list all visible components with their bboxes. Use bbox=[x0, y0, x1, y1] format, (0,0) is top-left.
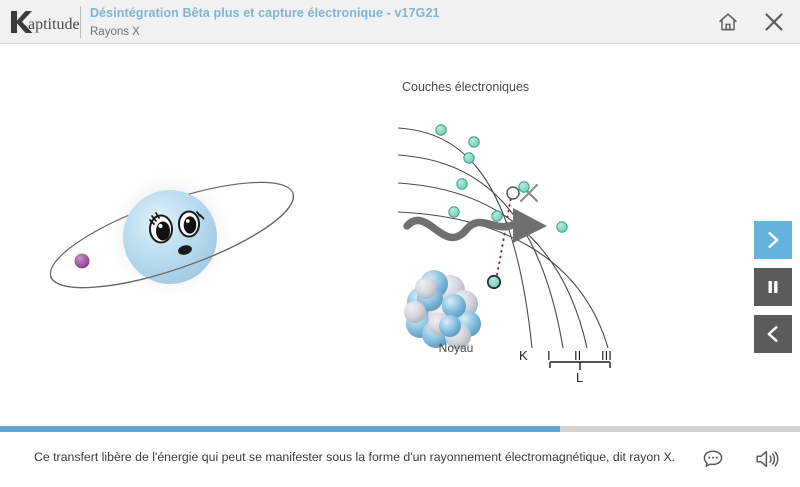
electron-shells-diagram: Couches électroniques bbox=[380, 80, 660, 410]
transitioning-electron bbox=[488, 276, 500, 288]
caption-bar: Ce transfert libère de l'énergie qui peu… bbox=[0, 432, 800, 487]
shell-label-l1: I bbox=[547, 348, 551, 363]
shell-label-ticks bbox=[550, 362, 610, 370]
pause-button[interactable] bbox=[754, 268, 792, 306]
electrons bbox=[436, 125, 567, 232]
hollow-circle-vacancy bbox=[507, 187, 519, 199]
logo-divider bbox=[80, 6, 81, 38]
shell-label-l-group: L bbox=[576, 370, 583, 385]
orbit-electron bbox=[75, 254, 90, 269]
caption-actions bbox=[698, 444, 782, 474]
playback-sidenav bbox=[754, 221, 792, 353]
header-actions bbox=[714, 8, 788, 36]
nucleus-cluster bbox=[404, 270, 481, 349]
course-title: Désintégration Bêta plus et capture élec… bbox=[90, 5, 440, 21]
wavy-xray-arrow bbox=[407, 208, 547, 243]
close-icon[interactable] bbox=[760, 8, 788, 36]
course-subtitle: Rayons X bbox=[90, 24, 440, 40]
svg-text:aptitude: aptitude bbox=[28, 16, 80, 33]
shell-label-k: K bbox=[519, 348, 528, 363]
shell-label-l2: II bbox=[574, 348, 581, 363]
home-icon[interactable] bbox=[714, 8, 742, 36]
kaptitude-logo: aptitude bbox=[8, 7, 80, 37]
course-player: aptitude Désintégration Bêta plus et cap… bbox=[0, 0, 800, 487]
nucleus-label: Noyau bbox=[411, 341, 501, 355]
next-button[interactable] bbox=[754, 221, 792, 259]
previous-button[interactable] bbox=[754, 315, 792, 353]
speech-bubble-icon[interactable] bbox=[698, 444, 728, 474]
slide-stage: Couches électroniques bbox=[0, 45, 800, 423]
app-header: aptitude Désintégration Bêta plus et cap… bbox=[0, 0, 800, 44]
atom-character bbox=[22, 145, 322, 325]
title-block: Désintégration Bêta plus et capture élec… bbox=[90, 5, 440, 40]
speaker-icon[interactable] bbox=[752, 444, 782, 474]
caption-text: Ce transfert libère de l'énergie qui peu… bbox=[34, 449, 694, 465]
shell-label-l3: III bbox=[601, 348, 612, 363]
